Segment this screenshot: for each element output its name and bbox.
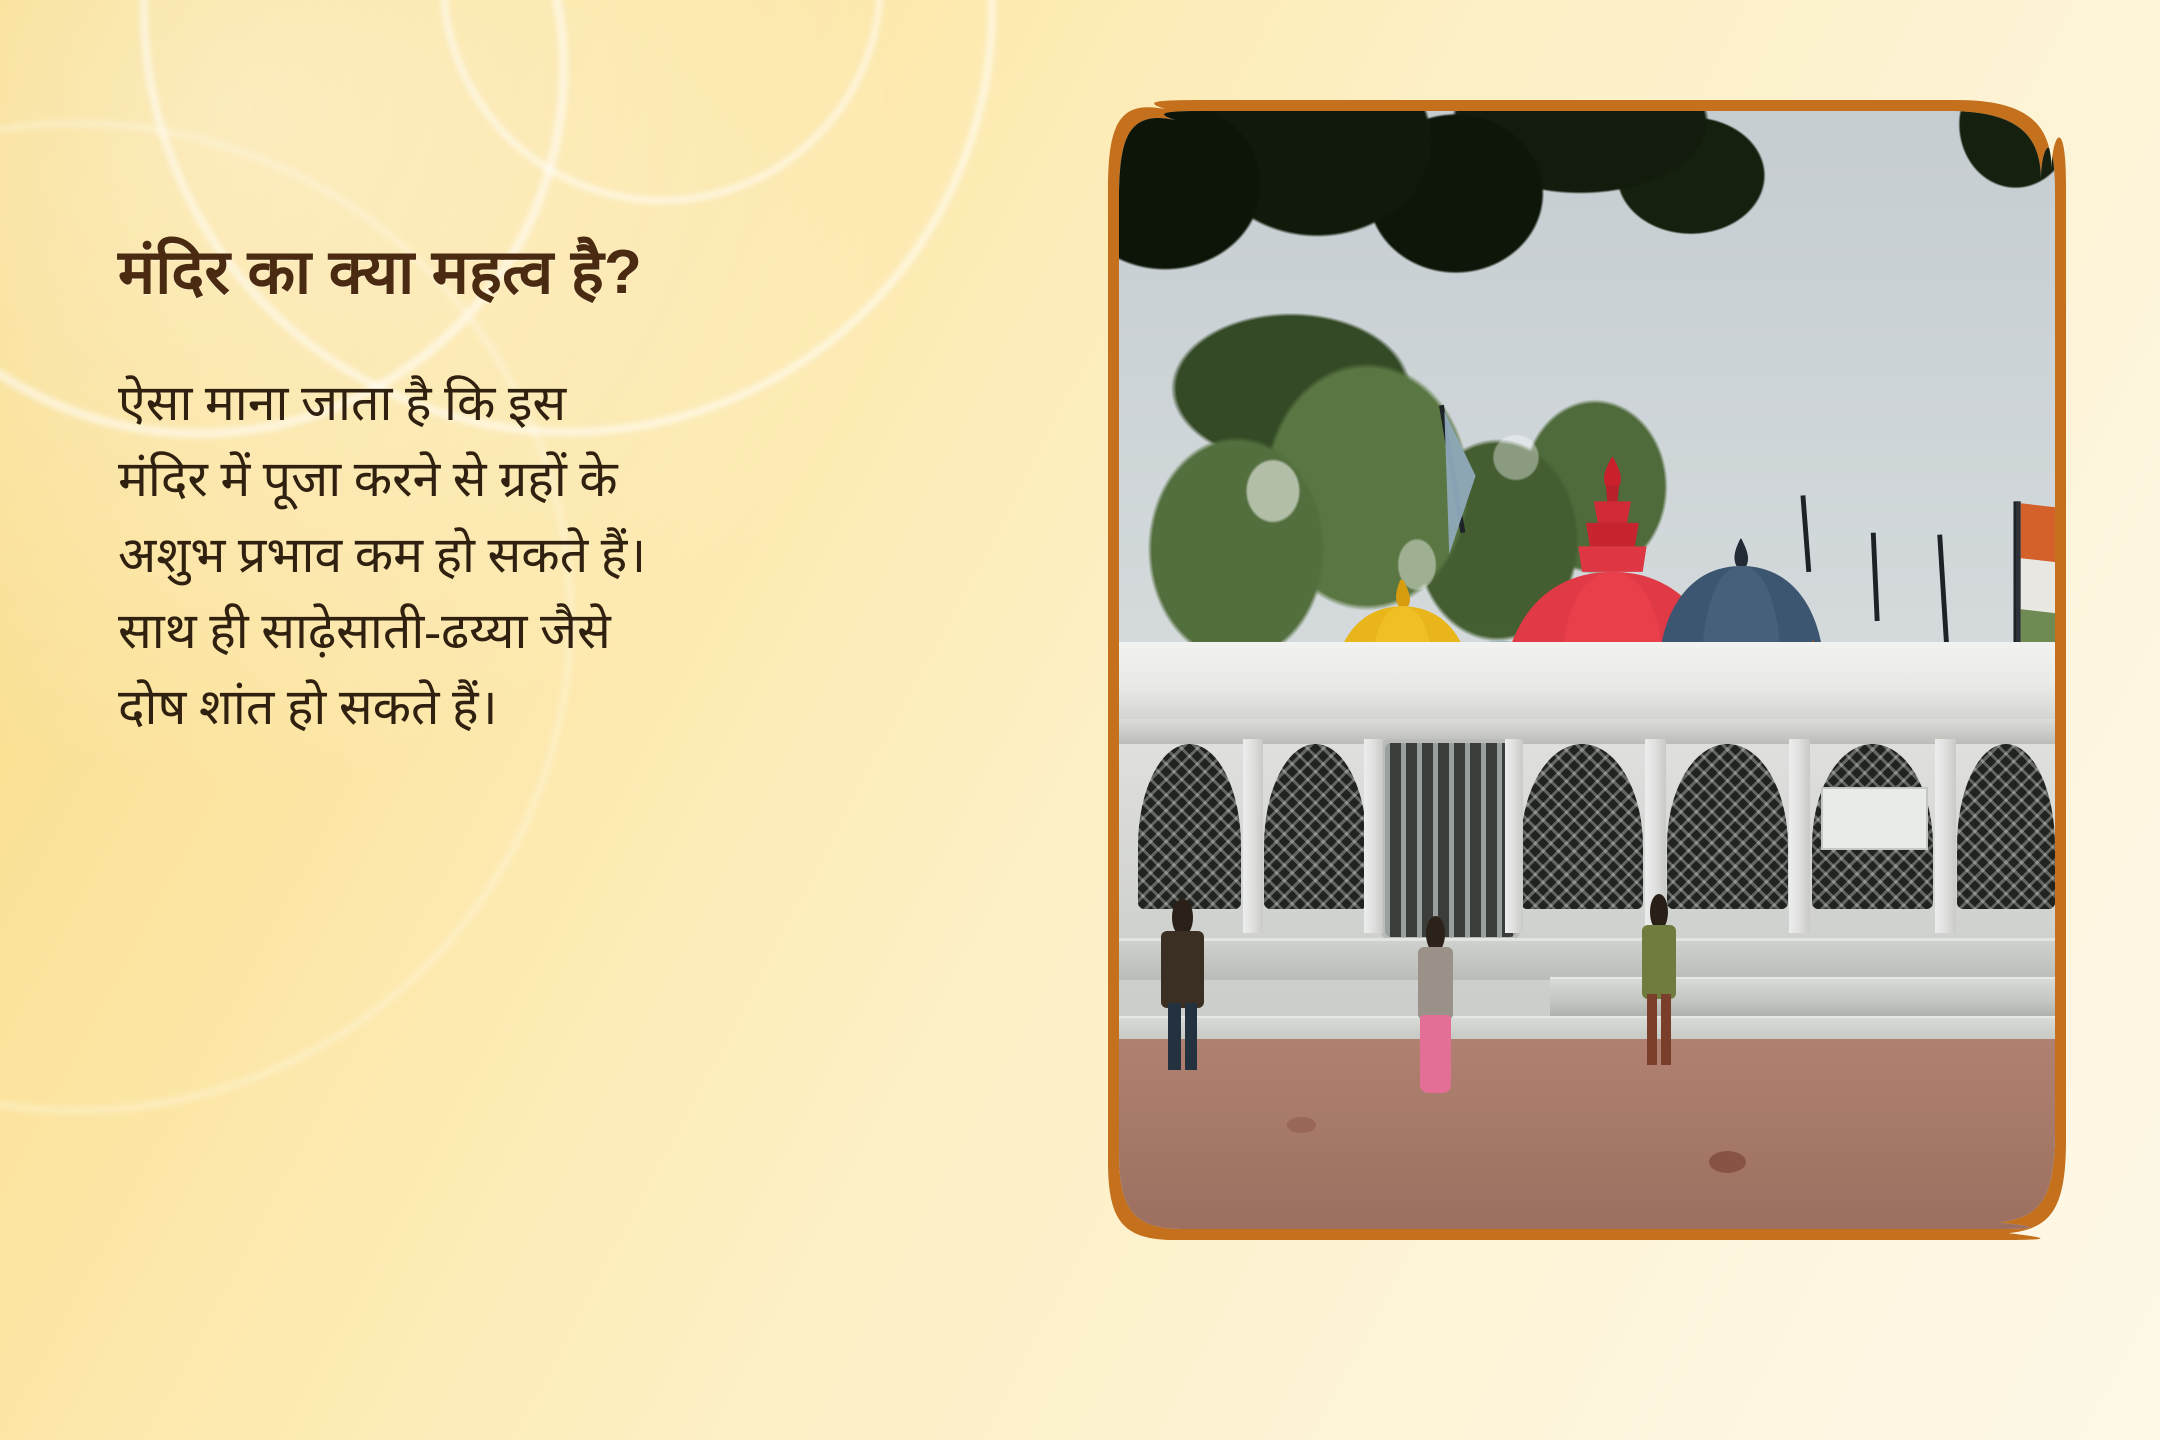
lattice-arch bbox=[1667, 744, 1789, 909]
lattice-arch bbox=[1138, 744, 1241, 909]
step bbox=[1550, 977, 2055, 1018]
child-figure bbox=[1158, 899, 1207, 1067]
flag-left bbox=[1444, 411, 1475, 554]
lattice-arch bbox=[1521, 744, 1643, 909]
pillar bbox=[1243, 739, 1264, 933]
pillar bbox=[1364, 739, 1383, 933]
page-title: मंदिर का क्या महत्व है? bbox=[118, 236, 1018, 309]
lattice-arch bbox=[1264, 744, 1367, 909]
text-column: मंदिर का क्या महत्व है? ऐसा माना जाता है… bbox=[118, 236, 1018, 745]
body-paragraph: ऐसा माना जाता है कि इस मंदिर में पूजा कर… bbox=[118, 365, 938, 745]
body-line: अशुभ प्रभाव कम हो सकते हैं। bbox=[118, 517, 938, 593]
temple-roof-slab bbox=[1119, 642, 2055, 726]
wall-plaque bbox=[1821, 787, 1928, 849]
temple-entrance-gate bbox=[1381, 739, 1520, 941]
body-line: मंदिर में पूजा करने से ग्रहों के bbox=[118, 441, 938, 517]
pillar bbox=[1789, 739, 1810, 933]
infographic-card: मंदिर का क्या महत्व है? ऐसा माना जाता है… bbox=[0, 0, 2160, 1440]
ground-debris bbox=[1709, 1151, 1746, 1173]
photo-frame-border bbox=[1108, 100, 2066, 1240]
temple-photo-frame bbox=[1108, 100, 2066, 1240]
body-line: दोष शांत हो सकते हैं। bbox=[118, 669, 938, 745]
child-figure bbox=[1414, 916, 1457, 1089]
lattice-arch bbox=[1957, 744, 2055, 909]
body-line: साथ ही साढ़ेसाती-ढय्या जैसे bbox=[118, 593, 938, 669]
pillar bbox=[1505, 739, 1524, 933]
body-line: ऐसा माना जाता है कि इस bbox=[118, 365, 938, 441]
temple-scene bbox=[1119, 111, 2055, 1229]
temple-photo bbox=[1119, 111, 2055, 1229]
temple-plinth bbox=[1119, 938, 2055, 980]
ground-debris bbox=[1287, 1117, 1315, 1133]
child-figure bbox=[1638, 894, 1679, 1062]
pillar bbox=[1935, 739, 1956, 933]
courtyard-ground bbox=[1119, 1039, 2055, 1229]
